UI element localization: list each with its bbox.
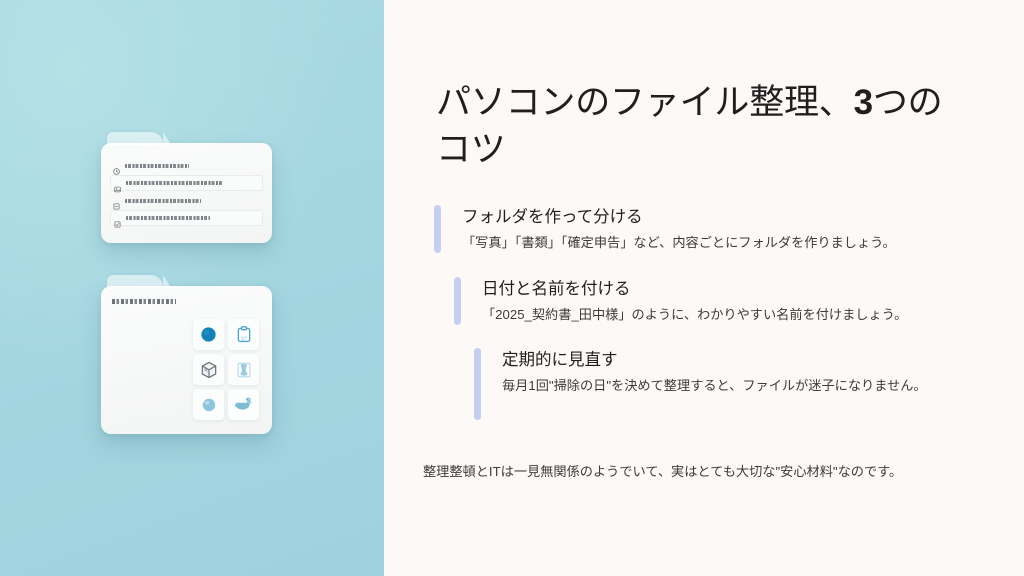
tip-item-3: 定期的に見直す 毎月1回"掃除の日"を決めて整理すると、ファイルが迷子になりませ…: [474, 348, 974, 420]
slide-canvas: パソコンのファイル整理、3つのコツ フォルダを作って分ける 「写真」「書類」「確…: [0, 0, 1024, 576]
icon-tile: [228, 354, 259, 385]
tip-title: 定期的に見直す: [502, 348, 927, 373]
checkbox-icon: [114, 215, 121, 222]
document-icon: [113, 197, 120, 204]
icon-tile: [228, 319, 259, 350]
icon-grid-card: [101, 286, 272, 434]
folder-tab: [107, 132, 163, 146]
duck-icon: [234, 397, 253, 412]
tip-description: 毎月1回"掃除の日"を決めて整理すると、ファイルが迷子になりません。: [502, 375, 927, 396]
page-title: パソコンのファイル整理、3つのコツ: [436, 80, 974, 173]
page-title-prefix: パソコンのファイル整理、: [436, 83, 854, 122]
content-panel: パソコンのファイル整理、3つのコツ フォルダを作って分ける 「写真」「書類」「確…: [384, 0, 1024, 576]
icon-tile: [193, 354, 224, 385]
list-item: [110, 175, 263, 191]
blue-circle-icon: [200, 326, 217, 343]
tip-item-1: フォルダを作って分ける 「写真」「書類」「確定申告」など、内容ごとにフォルダを作…: [434, 205, 964, 253]
tip-description: 「2025_契約書_田中様」のように、わかりやすい名前を付けましょう。: [482, 304, 907, 325]
clock-icon: [113, 162, 120, 169]
footnote-text: 整理整頓とITは一見無関係のようでいて、実はとても大切な"安心材料"なのです。: [423, 461, 983, 482]
accent-bar: [454, 277, 461, 325]
illustration-panel: [0, 0, 384, 576]
list-item: [110, 210, 263, 226]
accent-bar: [434, 205, 441, 253]
tip-body: 日付と名前を付ける 「2025_契約書_田中様」のように、わかりやすい名前を付け…: [461, 277, 907, 325]
file-list-card: [101, 143, 272, 243]
tip-title: フォルダを作って分ける: [462, 205, 896, 230]
placeholder-text: [126, 216, 210, 220]
placeholder-text: [125, 199, 201, 203]
sphere-icon: [201, 397, 217, 413]
tip-title: 日付と名前を付ける: [482, 277, 907, 302]
icon-tile: [193, 319, 224, 350]
icon-tile: [228, 389, 259, 420]
tip-description: 「写真」「書類」「確定申告」など、内容ごとにフォルダを作りましょう。: [462, 232, 896, 253]
icon-tile-grid: [193, 319, 259, 420]
placeholder-heading: [112, 299, 176, 304]
placeholder-text: [125, 164, 189, 168]
list-item: [110, 193, 263, 208]
cube-box-icon: [200, 361, 218, 379]
bag-icon: [236, 361, 252, 379]
clipboard-icon: [236, 326, 252, 344]
tip-item-2: 日付と名前を付ける 「2025_契約書_田中様」のように、わかりやすい名前を付け…: [454, 277, 972, 325]
placeholder-text: [126, 181, 222, 185]
image-icon: [114, 180, 121, 187]
tip-body: 定期的に見直す 毎月1回"掃除の日"を決めて整理すると、ファイルが迷子になりませ…: [481, 348, 927, 420]
accent-bar: [474, 348, 481, 420]
list-item: [110, 158, 263, 173]
folder-tab: [107, 275, 163, 289]
icon-tile: [193, 389, 224, 420]
page-title-number: 3: [854, 83, 873, 122]
tip-body: フォルダを作って分ける 「写真」「書類」「確定申告」など、内容ごとにフォルダを作…: [441, 205, 896, 253]
file-row-list: [110, 158, 263, 228]
